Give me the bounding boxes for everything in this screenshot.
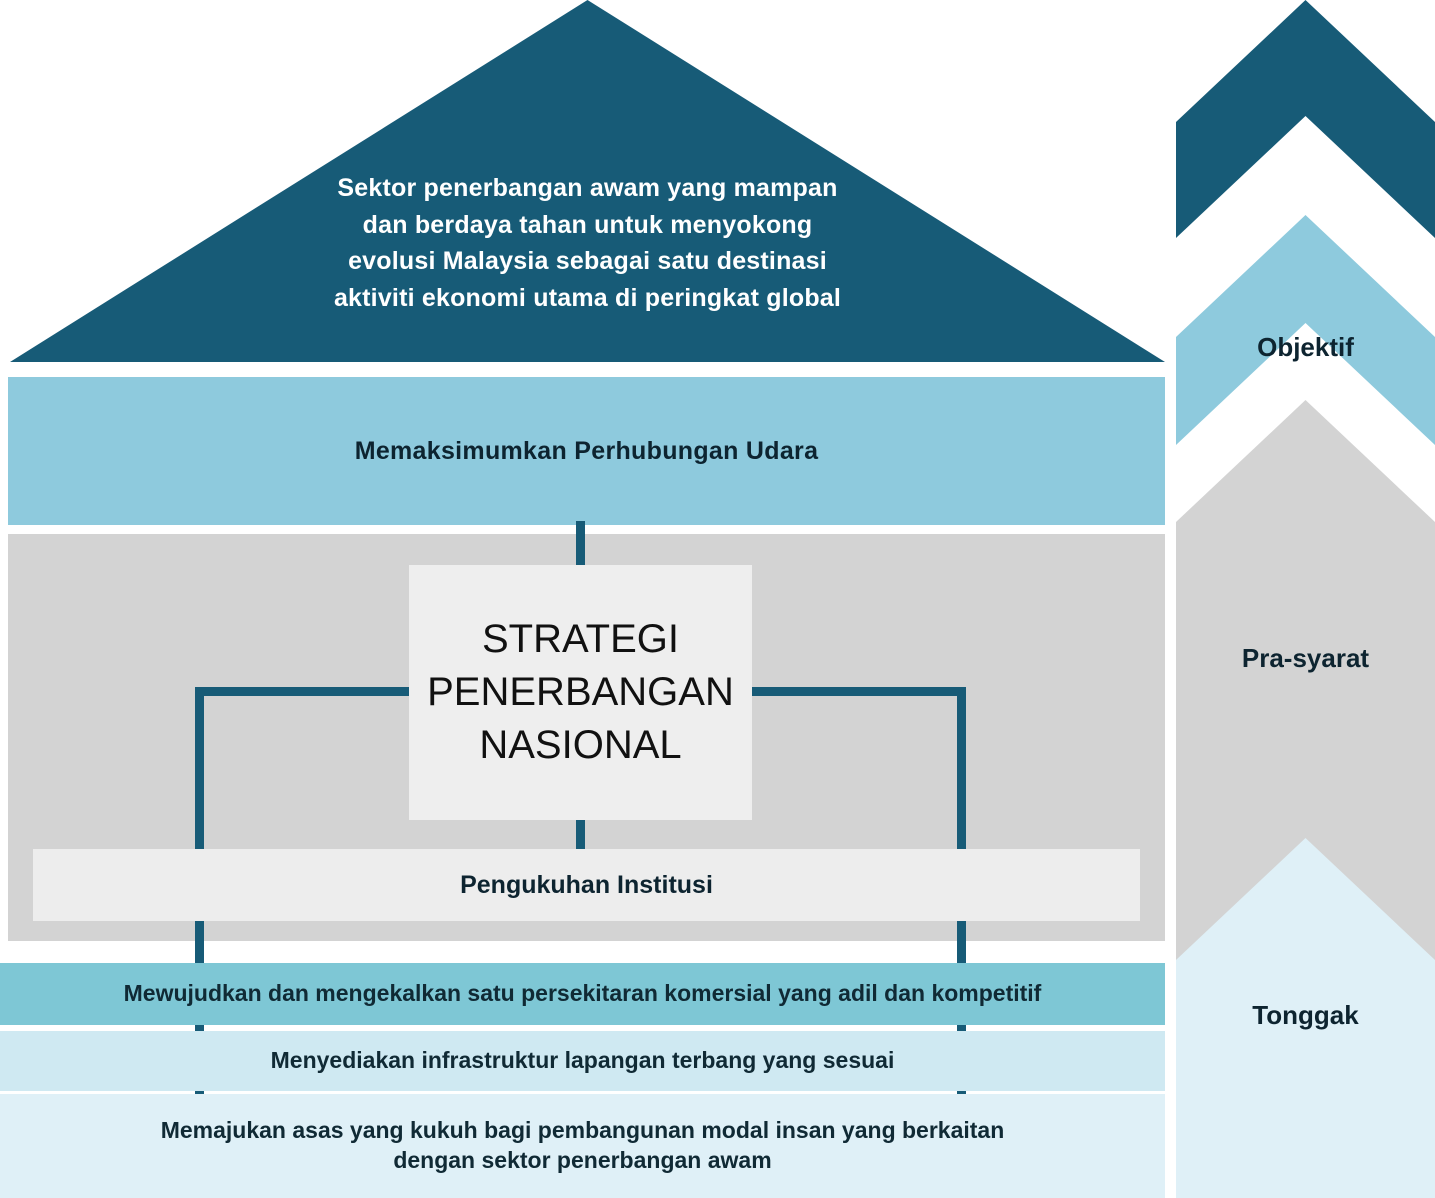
pillar-3-line-1: Memajukan asas yang kukuh bagi pembangun… bbox=[161, 1116, 1005, 1146]
connector-left-horizontal bbox=[195, 687, 414, 696]
legend-chevrons: Visi Objektif Pra-syarat Tonggak bbox=[1176, 0, 1435, 1198]
pillar-3-line-2: dengan sektor penerbangan awam bbox=[161, 1146, 1005, 1176]
vision-line-3: evolusi Malaysia sebagai satu destinasi bbox=[10, 243, 1165, 280]
pillar-1: Mewujudkan dan mengekalkan satu persekit… bbox=[0, 963, 1165, 1025]
legend-label-prasyarat: Pra-syarat bbox=[1176, 643, 1435, 674]
pillar-2: Menyediakan infrastruktur lapangan terba… bbox=[0, 1031, 1165, 1091]
connector-right-horizontal bbox=[748, 687, 966, 696]
strategy-line-1: STRATEGI bbox=[427, 613, 734, 666]
connector-top-vertical bbox=[576, 521, 585, 569]
pillar-2-label: Menyediakan infrastruktur lapangan terba… bbox=[247, 1046, 919, 1076]
objective-band: Memaksimumkan Perhubungan Udara bbox=[8, 377, 1165, 525]
strategy-center-box: STRATEGI PENERBANGAN NASIONAL bbox=[409, 565, 752, 820]
legend-label-objektif: Objektif bbox=[1176, 332, 1435, 363]
institution-label: Pengukuhan Institusi bbox=[460, 871, 713, 900]
main-diagram: Sektor penerbangan awam yang mampan dan … bbox=[0, 0, 1165, 1198]
legend-label-objektif-wrap: Objektif Pra-syarat Tonggak bbox=[1176, 0, 1435, 1198]
pillar-3: Memajukan asas yang kukuh bagi pembangun… bbox=[0, 1094, 1165, 1198]
strategy-line-3: NASIONAL bbox=[427, 719, 734, 772]
legend-label-tonggak: Tonggak bbox=[1176, 1000, 1435, 1031]
vision-roof: Sektor penerbangan awam yang mampan dan … bbox=[10, 0, 1165, 370]
pillar-1-line-1: Mewujudkan dan mengekalkan satu persekit… bbox=[124, 979, 1042, 1009]
strategy-line-2: PENERBANGAN bbox=[427, 666, 734, 719]
vision-line-4: aktiviti ekonomi utama di peringkat glob… bbox=[10, 280, 1165, 317]
pillar-2-line-1: Menyediakan infrastruktur lapangan terba… bbox=[271, 1046, 895, 1076]
vision-text: Sektor penerbangan awam yang mampan dan … bbox=[10, 170, 1165, 316]
vision-line-2: dan berdaya tahan untuk menyokong bbox=[10, 207, 1165, 244]
vision-line-1: Sektor penerbangan awam yang mampan bbox=[10, 170, 1165, 207]
pillar-3-label: Memajukan asas yang kukuh bagi pembangun… bbox=[137, 1116, 1029, 1176]
institution-bar: Pengukuhan Institusi bbox=[33, 849, 1140, 921]
pillar-1-label: Mewujudkan dan mengekalkan satu persekit… bbox=[100, 979, 1066, 1009]
diagram-canvas: Sektor penerbangan awam yang mampan dan … bbox=[0, 0, 1435, 1198]
objective-label: Memaksimumkan Perhubungan Udara bbox=[355, 437, 819, 466]
strategy-center-label: STRATEGI PENERBANGAN NASIONAL bbox=[427, 613, 734, 773]
